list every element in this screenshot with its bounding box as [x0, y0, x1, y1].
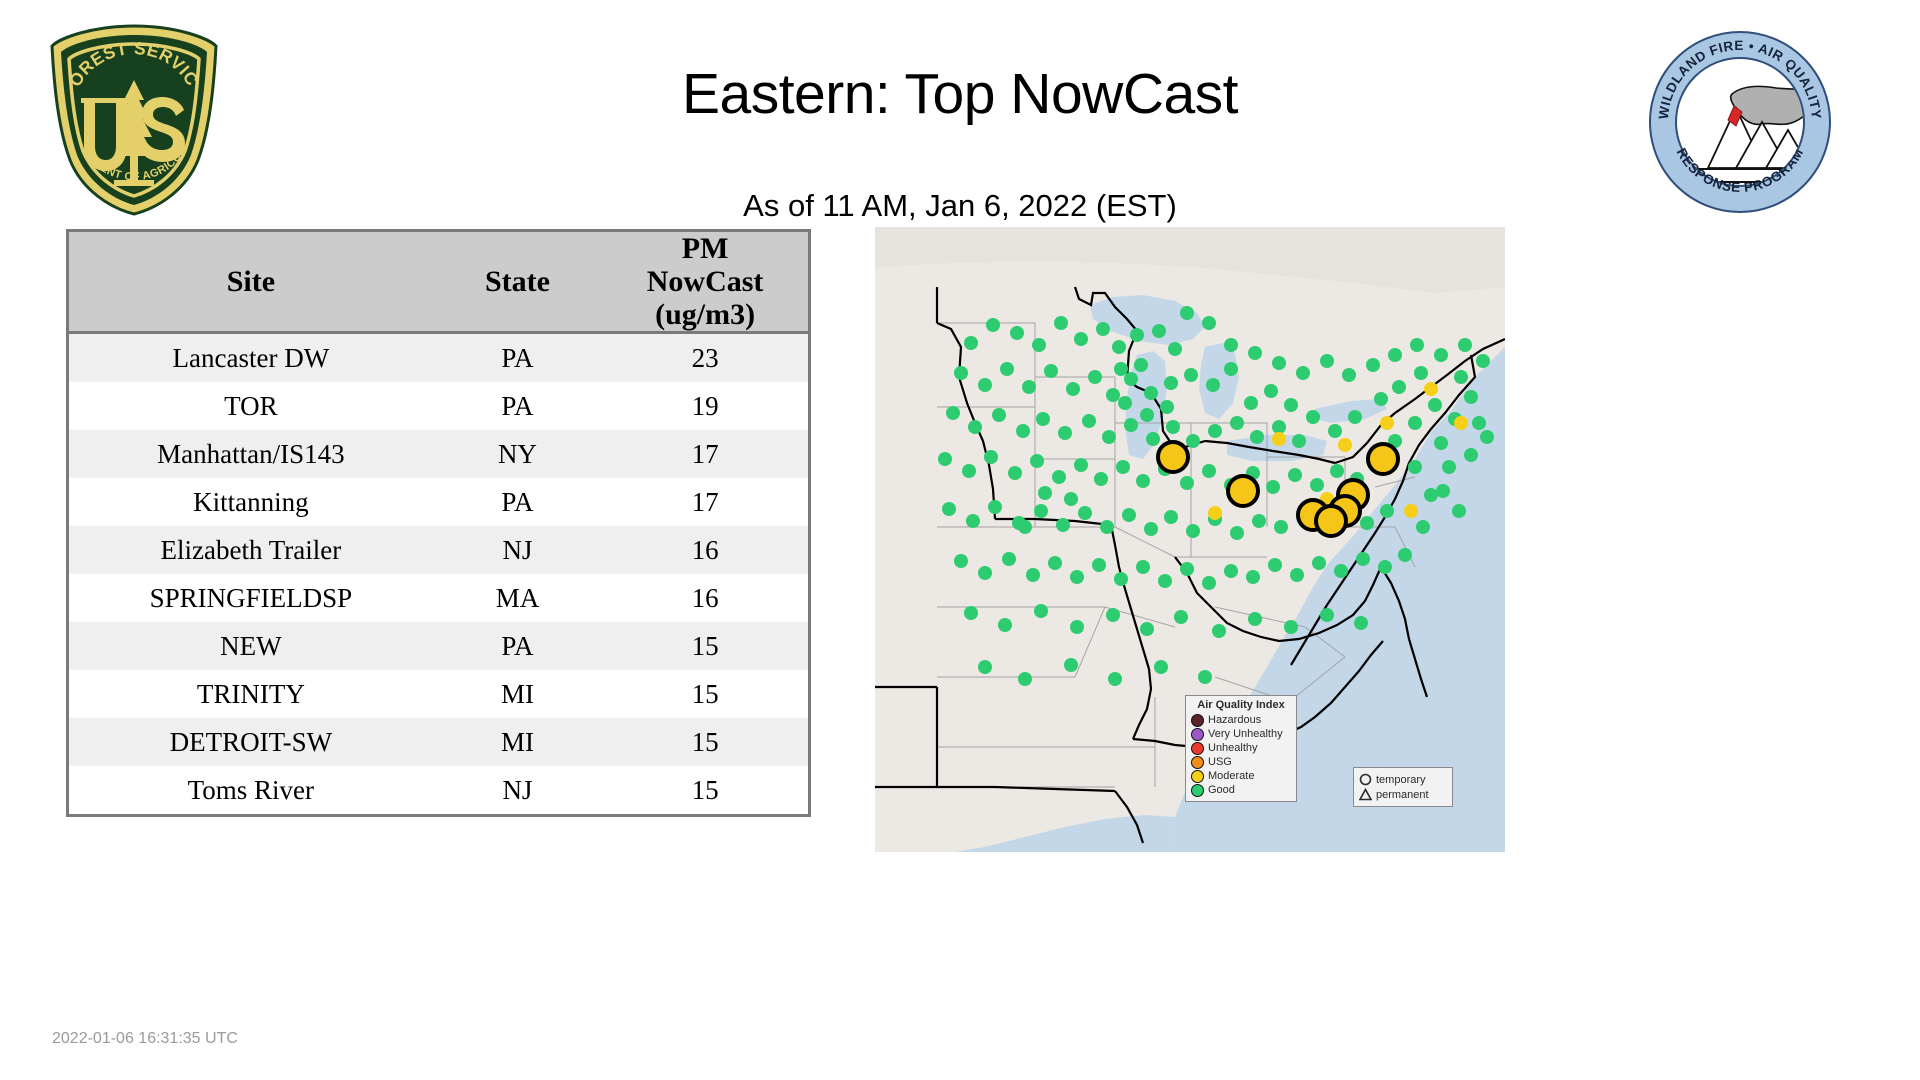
aqi-swatch-icon [1191, 728, 1204, 741]
page-subtitle: As of 11 AM, Jan 6, 2022 (EST) [0, 189, 1920, 223]
marker-type-legend: temporary permanent [1353, 767, 1453, 807]
table-cell-state: PA [433, 382, 602, 430]
column-header-pm-nowcast[interactable]: PM NowCast (ug/m3) [602, 231, 809, 333]
aqi-swatch-icon [1191, 756, 1204, 769]
top-site-marker-springfieldsp[interactable] [1368, 444, 1398, 474]
table-cell-pm-nowcast: 16 [602, 526, 809, 574]
table-cell-pm-nowcast: 15 [602, 670, 809, 718]
aqi-legend-label: Moderate [1208, 770, 1254, 782]
table-cell-pm-nowcast: 15 [602, 766, 809, 816]
table-cell-site: Kittanning [68, 478, 433, 526]
aqi-legend-label: Very Unhealthy [1208, 728, 1283, 740]
table-cell-site: NEW [68, 622, 433, 670]
pm-header-line-2: NowCast [606, 265, 804, 298]
table-cell-pm-nowcast: 15 [602, 622, 809, 670]
top-nowcast-table: Site State PM NowCast (ug/m3) Lancaster … [66, 229, 811, 817]
aqi-legend-label: Hazardous [1208, 714, 1261, 726]
legend-row-permanent: permanent [1359, 787, 1447, 802]
table-cell-site: Lancaster DW [68, 333, 433, 383]
table-cell-pm-nowcast: 19 [602, 382, 809, 430]
aqi-swatch-icon [1191, 714, 1204, 727]
table-cell-site: SPRINGFIELDSP [68, 574, 433, 622]
table-cell-state: MA [433, 574, 602, 622]
table-row[interactable]: DETROIT-SWMI15 [68, 718, 810, 766]
table-row[interactable]: KittanningPA17 [68, 478, 810, 526]
aqi-legend-label: Good [1208, 784, 1235, 796]
air-quality-map[interactable]: Air Quality Index HazardousVery Unhealth… [875, 227, 1505, 852]
aqi-legend-item: Hazardous [1191, 713, 1291, 727]
top-site-marker-kittanning[interactable] [1228, 476, 1258, 506]
pm-header-line-3: (ug/m3) [606, 298, 804, 331]
aqi-legend-label: Unhealthy [1208, 742, 1258, 754]
table-cell-state: PA [433, 478, 602, 526]
table-row[interactable]: Elizabeth TrailerNJ16 [68, 526, 810, 574]
table-cell-pm-nowcast: 23 [602, 333, 809, 383]
table-cell-state: NY [433, 430, 602, 478]
table-row[interactable]: Manhattan/IS143NY17 [68, 430, 810, 478]
aqi-legend-label: USG [1208, 756, 1232, 768]
table-header-row: Site State PM NowCast (ug/m3) [68, 231, 810, 333]
legend-label-permanent: permanent [1376, 789, 1429, 801]
aqi-legend-rows: HazardousVery UnhealthyUnhealthyUSGModer… [1191, 713, 1291, 797]
table-cell-state: MI [433, 670, 602, 718]
top-site-marker-detroit[interactable] [1158, 442, 1188, 472]
table-row[interactable]: TORPA19 [68, 382, 810, 430]
table-cell-site: TRINITY [68, 670, 433, 718]
aqi-swatch-icon [1191, 784, 1204, 797]
aqi-legend-item: Good [1191, 783, 1291, 797]
table-cell-state: NJ [433, 526, 602, 574]
table-cell-pm-nowcast: 16 [602, 574, 809, 622]
aqi-legend-title: Air Quality Index [1191, 699, 1291, 711]
aqi-legend: Air Quality Index HazardousVery Unhealth… [1185, 695, 1297, 802]
aqi-legend-item: USG [1191, 755, 1291, 769]
column-header-site[interactable]: Site [68, 231, 433, 333]
table-cell-state: MI [433, 718, 602, 766]
table-cell-site: Elizabeth Trailer [68, 526, 433, 574]
permanent-triangle-icon [1359, 788, 1372, 801]
table-cell-site: Toms River [68, 766, 433, 816]
aqi-legend-item: Moderate [1191, 769, 1291, 783]
table-cell-site: TOR [68, 382, 433, 430]
legend-row-temporary: temporary [1359, 772, 1447, 787]
table-row[interactable]: Lancaster DWPA23 [68, 333, 810, 383]
table-body: Lancaster DWPA23TORPA19Manhattan/IS143NY… [68, 333, 810, 816]
top-site-marker-toms-river[interactable] [1316, 506, 1346, 536]
table-cell-state: PA [433, 622, 602, 670]
page-title: Eastern: Top NowCast [0, 64, 1920, 124]
table-cell-pm-nowcast: 15 [602, 718, 809, 766]
table-row[interactable]: NEWPA15 [68, 622, 810, 670]
column-header-state[interactable]: State [433, 231, 602, 333]
table-cell-site: Manhattan/IS143 [68, 430, 433, 478]
table-header: Site State PM NowCast (ug/m3) [68, 231, 810, 333]
aqi-legend-item: Unhealthy [1191, 741, 1291, 755]
table-row[interactable]: Toms RiverNJ15 [68, 766, 810, 816]
pm-header-line-1: PM [606, 232, 804, 265]
table-cell-pm-nowcast: 17 [602, 478, 809, 526]
table-cell-state: PA [433, 333, 602, 383]
temporary-circle-icon [1359, 773, 1372, 786]
aqi-swatch-icon [1191, 742, 1204, 755]
aqi-legend-item: Very Unhealthy [1191, 727, 1291, 741]
table-cell-state: NJ [433, 766, 602, 816]
aqi-swatch-icon [1191, 770, 1204, 783]
legend-label-temporary: temporary [1376, 774, 1426, 786]
table-row[interactable]: SPRINGFIELDSPMA16 [68, 574, 810, 622]
table-cell-site: DETROIT-SW [68, 718, 433, 766]
table-row[interactable]: TRINITYMI15 [68, 670, 810, 718]
table-cell-pm-nowcast: 17 [602, 430, 809, 478]
generated-timestamp: 2022-01-06 16:31:35 UTC [52, 1030, 238, 1048]
